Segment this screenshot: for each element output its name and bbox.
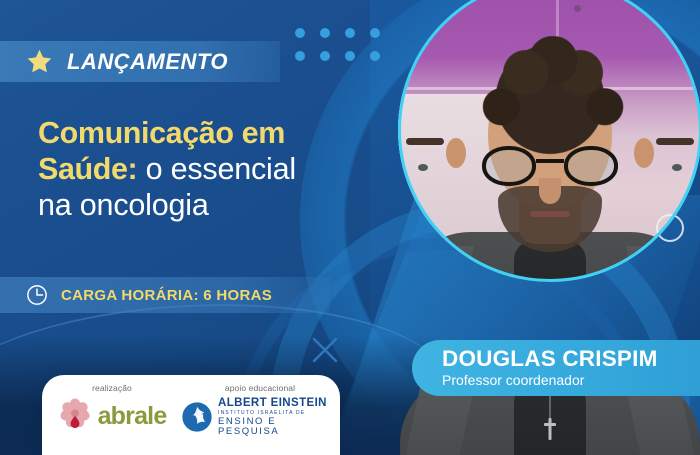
sponsor-apoio: apoio educacional ALBERT EINSTEIN INSTIT… — [182, 375, 338, 436]
eyebrow-right — [406, 138, 444, 145]
course-promo-banner: LANÇAMENTO Comunicação em Saúde: o essen… — [0, 0, 700, 455]
eyebrow-left — [656, 138, 694, 145]
eye-right — [418, 164, 428, 171]
headline-rest-2: o essencial — [137, 152, 296, 186]
launch-badge: LANÇAMENTO — [0, 41, 280, 82]
einstein-line-1: ALBERT EINSTEIN — [218, 398, 338, 410]
mouth — [530, 211, 570, 217]
star-icon — [26, 48, 53, 75]
dot — [345, 51, 355, 61]
decorative-dot-grid — [295, 28, 380, 61]
lens-left — [482, 146, 536, 186]
sponsor-realizacao: realização — [42, 375, 182, 432]
headline-line-3: na oncologia — [38, 188, 398, 224]
dot — [345, 28, 355, 38]
einstein-wordmark: ALBERT EINSTEIN INSTITUTO ISRAELITA DE E… — [218, 398, 338, 436]
workload-label: CARGA HORÁRIA: 6 HORAS — [61, 287, 272, 304]
eye-left — [672, 164, 682, 171]
dot — [295, 28, 305, 38]
clock-icon — [26, 284, 48, 306]
headline-line-3-text: na oncologia — [38, 188, 209, 222]
headline-line-1: Comunicação em — [38, 116, 398, 152]
ear-right — [446, 138, 466, 168]
workload-badge: CARGA HORÁRIA: 6 HORAS — [0, 277, 330, 313]
lens-right — [564, 146, 618, 186]
speaker-photo-circle — [398, 0, 700, 282]
dot — [295, 51, 305, 61]
glasses-icon — [482, 146, 618, 186]
glasses-bridge — [536, 159, 564, 163]
albert-einstein-logo: ALBERT EINSTEIN INSTITUTO ISRAELITA DE E… — [182, 398, 338, 436]
einstein-line-3: ENSINO E PESQUISA — [218, 417, 338, 436]
speaker-name: DOUGLAS CRISPIM — [442, 347, 700, 371]
dot — [320, 28, 330, 38]
sponsors-card: realização — [42, 375, 340, 455]
pendant-icon — [543, 418, 557, 440]
headline-line-2: Saúde: o essencial — [38, 152, 398, 188]
x-mark-icon — [311, 336, 339, 364]
speaker-photo-clip — [398, 0, 700, 282]
headline-highlight-1: Comunicação em — [38, 116, 285, 150]
dot — [370, 28, 380, 38]
abrale-flower-icon — [58, 398, 92, 432]
sponsor-apoio-label: apoio educacional — [225, 383, 295, 393]
speaker-name-banner: DOUGLAS CRISPIM Professor coordenador — [412, 340, 700, 396]
page-title: Comunicação em Saúde: o essencial na onc… — [38, 116, 398, 224]
launch-badge-label: LANÇAMENTO — [67, 49, 228, 75]
sponsor-realizacao-label: realização — [92, 383, 132, 393]
headline-highlight-2: Saúde: — [38, 152, 137, 186]
abrale-logo: abrale — [58, 398, 167, 432]
dot — [320, 51, 330, 61]
einstein-star-icon — [182, 402, 212, 432]
abrale-wordmark: abrale — [98, 404, 167, 429]
ear-left — [634, 138, 654, 168]
dot — [370, 51, 380, 61]
speaker-role: Professor coordenador — [442, 372, 700, 389]
circle-outline-icon — [656, 214, 684, 242]
